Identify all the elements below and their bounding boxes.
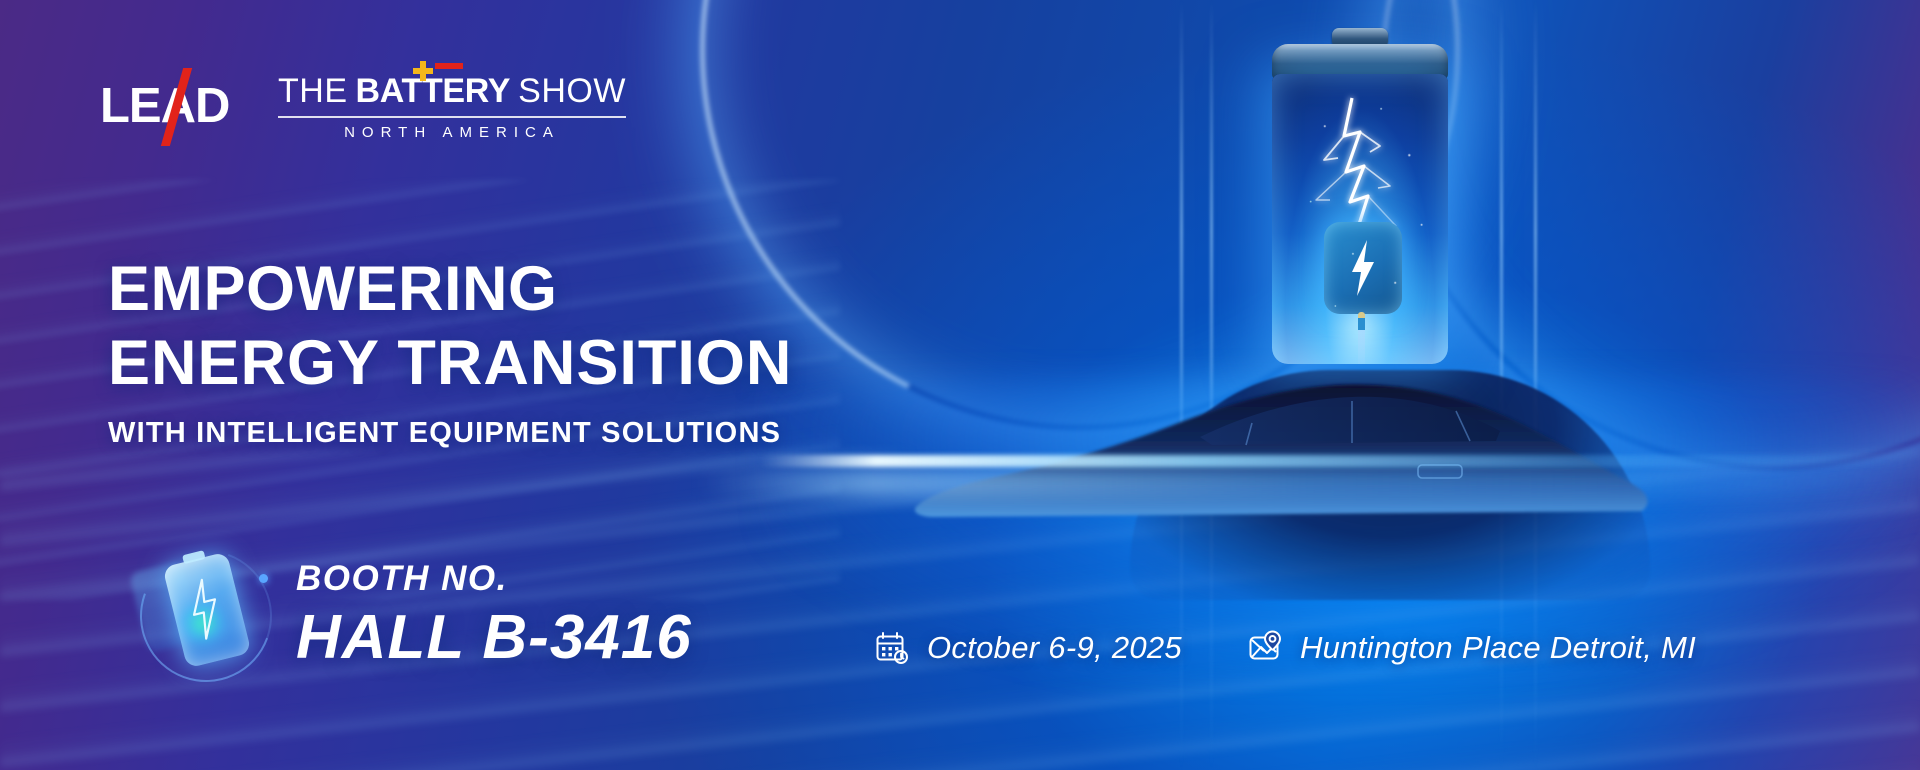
event-date-item: October 6-9, 2025 — [875, 630, 1182, 666]
orbit-dot — [259, 574, 268, 583]
battery-show-logo-line: THE BATTERY SHOW — [278, 72, 626, 111]
battery-bolt-icon — [132, 540, 282, 690]
plus-icon — [413, 61, 433, 81]
promo-banner: LEAD THE BATTERY SHOW NORTH AMERICA EMPO… — [0, 0, 1920, 770]
event-location-item: Huntington Place Detroit, MI — [1248, 630, 1696, 666]
battery-show-logo[interactable]: THE BATTERY SHOW NORTH AMERICA — [278, 70, 626, 141]
booth-text: BOOTH NO. HALL B-3416 — [296, 559, 692, 670]
booth-hall-number: HALL B-3416 — [296, 605, 692, 670]
lightning-bolt-icon — [1272, 74, 1448, 364]
minus-icon — [435, 63, 463, 69]
booth-label: BOOTH NO. — [296, 559, 692, 599]
event-location-text: Huntington Place Detroit, MI — [1300, 630, 1696, 666]
battery-cell-lightning-graphic — [1260, 28, 1460, 368]
headline-subtitle: WITH INTELLIGENT EQUIPMENT SOLUTIONS — [108, 417, 792, 450]
event-info-row: October 6-9, 2025 Huntington Place Detro… — [875, 630, 1696, 666]
event-date-text: October 6-9, 2025 — [927, 630, 1182, 666]
calendar-clock-icon — [875, 630, 911, 666]
logo-divider — [278, 116, 626, 118]
logo-word-battery-text: BATTERY — [356, 72, 511, 110]
light-beam — [760, 455, 1920, 467]
plug-bolt-icon — [1348, 240, 1378, 296]
logo-word-show: SHOW — [518, 72, 626, 111]
logo-row: LEAD THE BATTERY SHOW NORTH AMERICA — [100, 70, 626, 141]
logo-word-battery: BATTERY — [356, 72, 511, 111]
headline-line-2: ENERGY TRANSITION — [108, 326, 792, 400]
lead-logo[interactable]: LEAD — [100, 78, 232, 134]
booth-block: BOOTH NO. HALL B-3416 — [132, 540, 692, 690]
battery-body — [1272, 74, 1448, 364]
map-pin-icon — [1248, 630, 1284, 666]
headline-block: EMPOWERING ENERGY TRANSITION WITH INTELL… — [108, 252, 792, 450]
light-beam-blur — [700, 470, 1920, 496]
headline-line-1: EMPOWERING — [108, 252, 792, 326]
charging-plug-icon — [1324, 222, 1402, 314]
logo-word-the: THE — [278, 72, 348, 111]
logo-region-label: NORTH AMERICA — [278, 124, 626, 141]
